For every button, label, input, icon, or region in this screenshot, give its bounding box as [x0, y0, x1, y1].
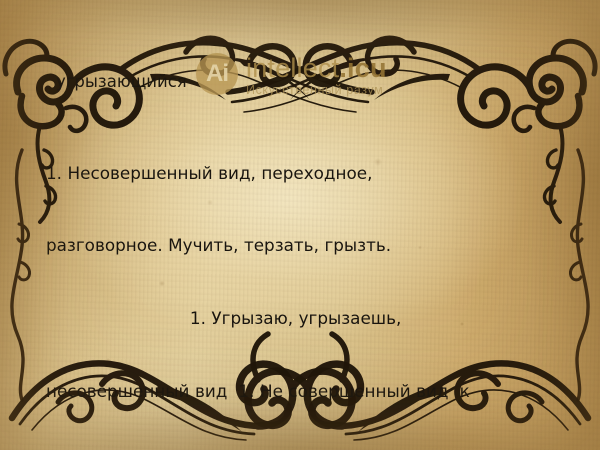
watermark-text-block: intellect.icu Искусственный разум: [246, 52, 387, 98]
watermark-brand-name: intellect: [246, 53, 339, 83]
entry-body: 1. Несовершенный вид, переходное, разгов…: [46, 112, 566, 450]
entry-headword: угрызающийся: [56, 72, 187, 92]
watermark: Ai intellect.icu Искусственный разум: [196, 52, 387, 98]
entry-line: разговорное. Мучить, терзать, грызть.: [46, 233, 566, 257]
ornament-right-vine: [570, 150, 588, 400]
watermark-logo-icon: Ai: [196, 53, 238, 95]
entry-line: 1. Угрызаю, угрызаешь,: [46, 306, 566, 330]
entry-line: несовершенный вид 1. Не совершенный вид …: [46, 379, 566, 403]
watermark-logo-text: Ai: [196, 53, 238, 95]
dictionary-entry-page: Ai intellect.icu Искусственный разум угр…: [0, 0, 600, 450]
watermark-brand: intellect.icu: [246, 54, 387, 82]
watermark-subtitle: Искусственный разум: [246, 83, 387, 98]
watermark-brand-tld: .icu: [339, 53, 386, 83]
ornament-left-vine: [12, 150, 30, 400]
entry-line: 1. Несовершенный вид, переходное,: [46, 161, 566, 185]
